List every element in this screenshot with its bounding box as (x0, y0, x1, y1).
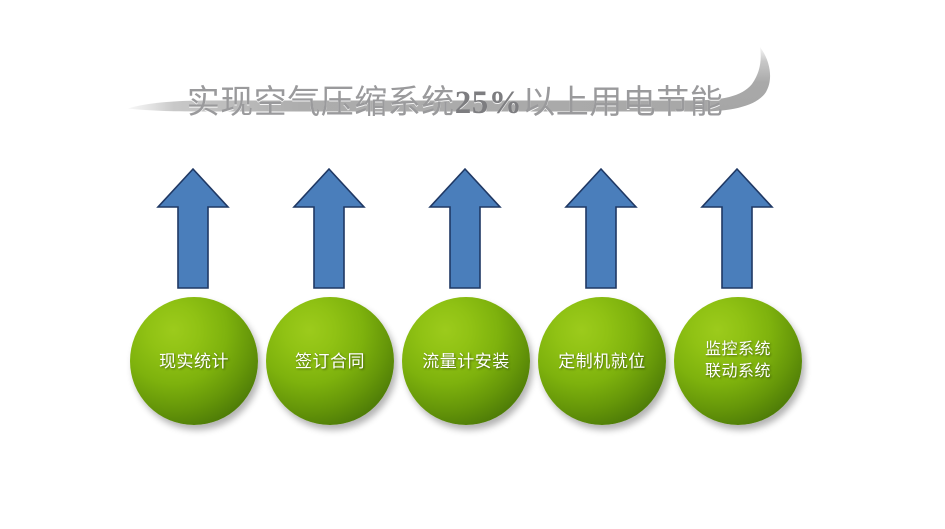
step-node-1[interactable]: 现实统计 (130, 297, 258, 425)
title-prefix: 实现空气压缩系统 (187, 85, 455, 121)
title-accent-value: 25% (455, 85, 523, 121)
arrow-5 (699, 166, 775, 292)
step-node-4[interactable]: 定制机就位 (538, 297, 666, 425)
title-banner: 实现空气压缩系统25%以上用电节能 (0, 34, 945, 144)
step-node-2[interactable]: 签订合同 (266, 297, 394, 425)
up-arrow-icon (158, 169, 228, 288)
step-label-2: 签订合同 (290, 350, 370, 373)
arrow-4 (563, 166, 639, 292)
up-arrow-icon (294, 169, 364, 288)
step-node-5[interactable]: 监控系统 联动系统 (674, 297, 802, 425)
step-label-4: 定制机就位 (553, 350, 651, 373)
page-title: 实现空气压缩系统25%以上用电节能 (150, 82, 760, 124)
step-node-3[interactable]: 流量计安装 (402, 297, 530, 425)
steps-row: 现实统计 签订合同 流量计安装 定制机就位 监控系统 联动系统 (0, 297, 945, 433)
arrow-1 (155, 166, 231, 292)
arrows-row (0, 166, 945, 292)
arrow-2 (291, 166, 367, 292)
title-suffix: 以上用电节能 (522, 85, 723, 121)
step-label-1: 现实统计 (154, 350, 234, 373)
slide-canvas: 实现空气压缩系统25%以上用电节能 (0, 0, 945, 529)
step-label-5: 监控系统 联动系统 (700, 339, 776, 383)
up-arrow-icon (430, 169, 500, 288)
up-arrow-icon (702, 169, 772, 288)
arrow-3 (427, 166, 503, 292)
up-arrow-icon (566, 169, 636, 288)
step-label-3: 流量计安装 (417, 350, 515, 373)
